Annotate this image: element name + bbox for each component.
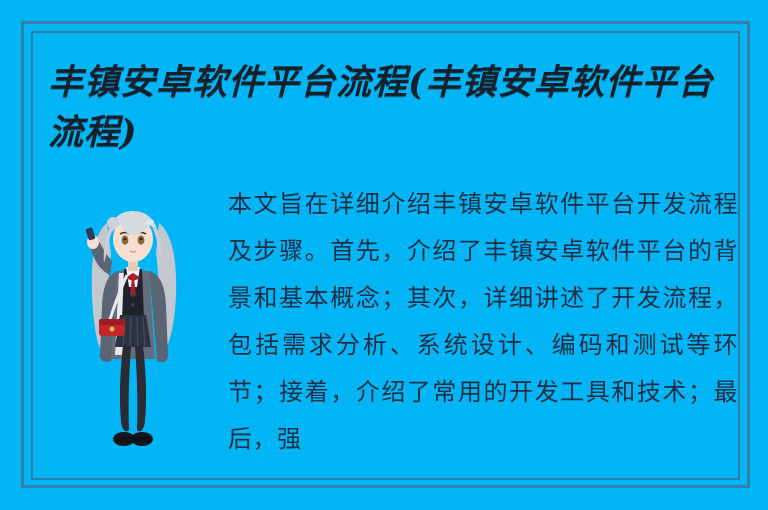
character-artwork	[63, 183, 203, 461]
poster-canvas: 丰镇安卓软件平台流程(丰镇安卓软件平台流程) 本文旨在详细介绍丰镇安卓软件平台开…	[0, 0, 768, 510]
page-title: 丰镇安卓软件平台流程(丰镇安卓软件平台流程)	[48, 58, 748, 158]
article-summary-text: 本文旨在详细介绍丰镇安卓软件平台开发流程及步骤。首先，介绍了丰镇安卓软件平台的背…	[228, 181, 738, 463]
page-title-text: 丰镇安卓软件平台流程(丰镇安卓软件平台流程)	[48, 58, 748, 158]
article-summary: 本文旨在详细介绍丰镇安卓软件平台开发流程及步骤。首先，介绍了丰镇安卓软件平台的背…	[228, 181, 738, 463]
anime-girl-character-illustration	[63, 183, 203, 461]
